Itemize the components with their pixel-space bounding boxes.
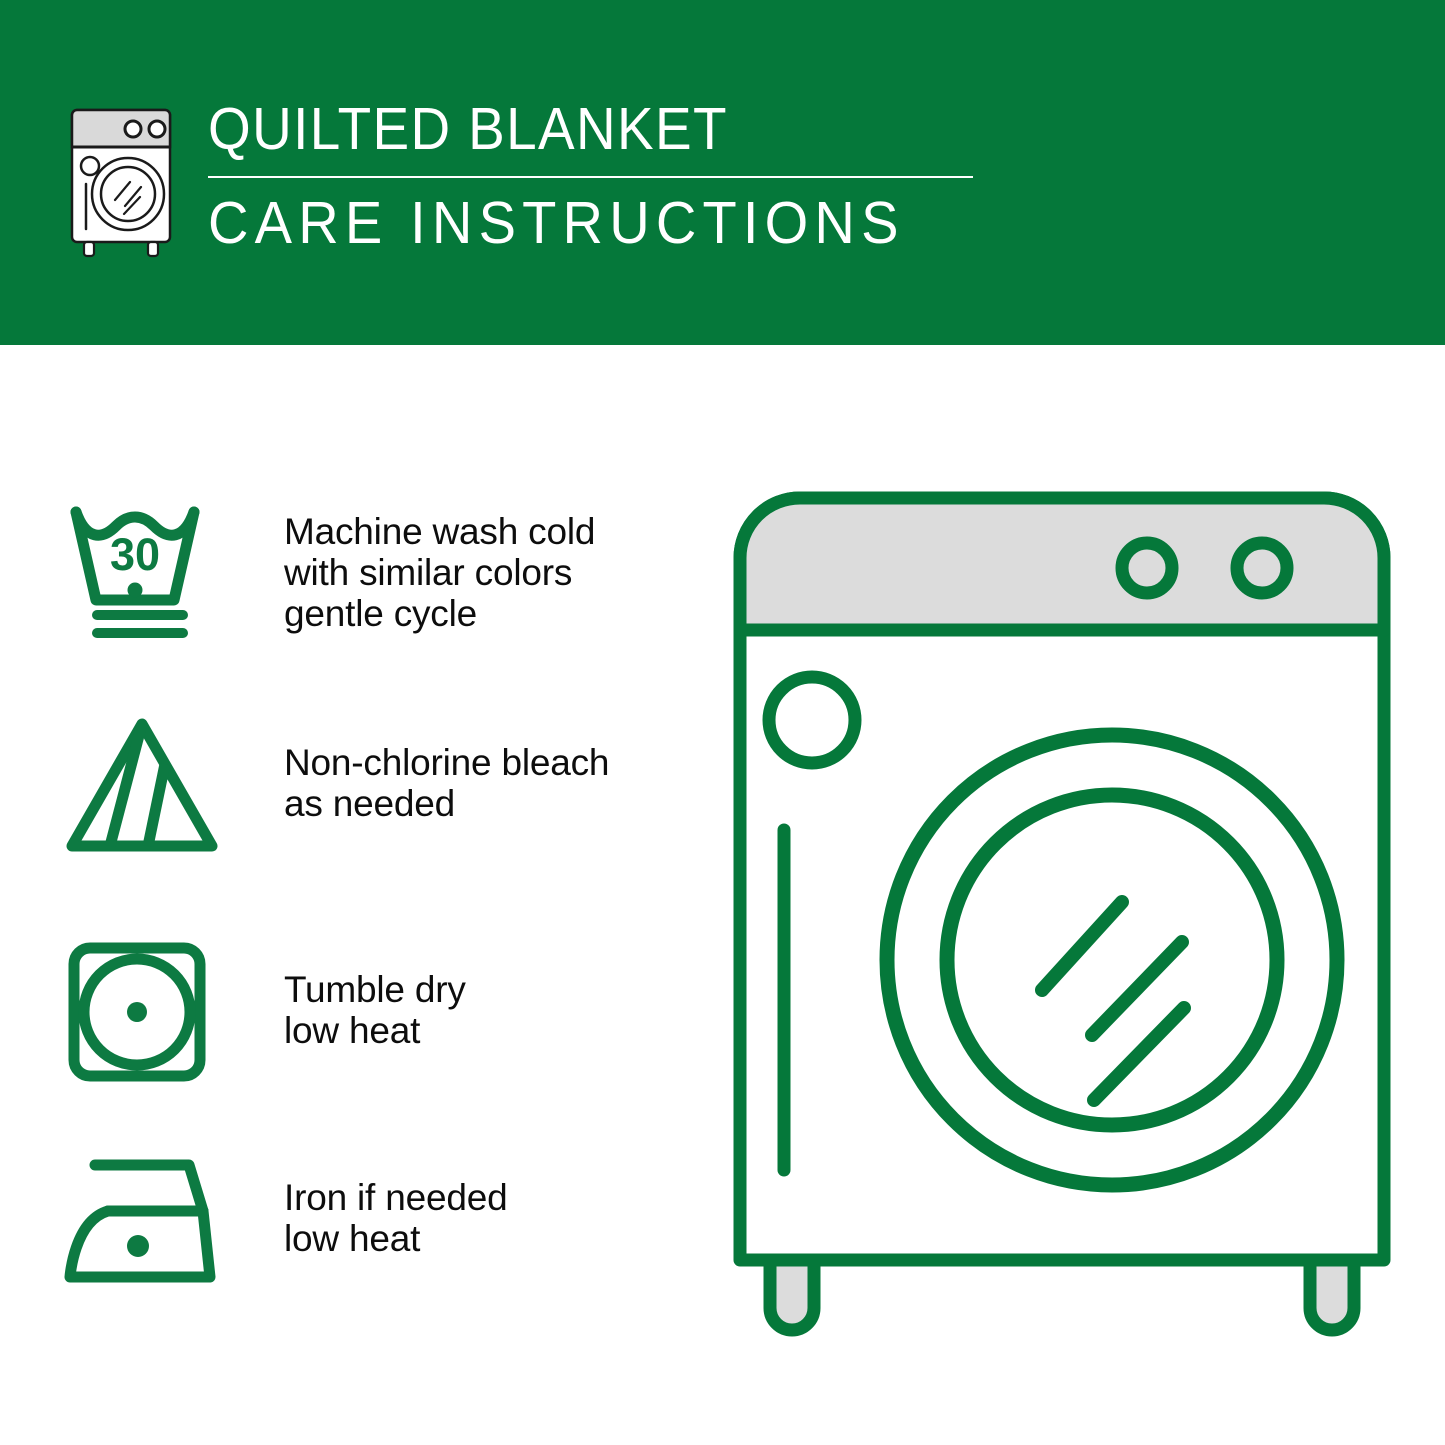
care-item-bleach-text: Non-chlorine bleach as needed bbox=[284, 710, 682, 824]
wash-tub-30-icon: 30 bbox=[62, 495, 232, 645]
care-item-tumble-dry: Tumble dry low heat bbox=[62, 937, 682, 1087]
care-item-bleach: Non-chlorine bleach as needed bbox=[62, 710, 682, 860]
care-instructions-page: QUILTED BLANKET CARE INSTRUCTIONS 30 bbox=[0, 0, 1445, 1445]
care-line: low heat bbox=[284, 1010, 682, 1051]
care-line: gentle cycle bbox=[284, 593, 682, 634]
care-line: Machine wash cold bbox=[284, 511, 682, 552]
care-line: low heat bbox=[284, 1218, 682, 1259]
care-item-iron-text: Iron if needed low heat bbox=[284, 1145, 682, 1259]
title-divider bbox=[208, 176, 973, 178]
care-item-wash-text: Machine wash cold with similar colors ge… bbox=[284, 495, 682, 634]
care-line: as needed bbox=[284, 783, 682, 824]
header-title-block: QUILTED BLANKET CARE INSTRUCTIONS bbox=[208, 96, 973, 256]
washing-machine-illustration bbox=[722, 480, 1402, 1360]
iron-low-heat-icon bbox=[62, 1145, 232, 1295]
bleach-triangle-icon bbox=[62, 710, 232, 860]
care-item-iron: Iron if needed low heat bbox=[62, 1145, 682, 1295]
svg-text:30: 30 bbox=[110, 529, 160, 580]
page-title: QUILTED BLANKET bbox=[208, 96, 919, 162]
care-line: Non-chlorine bleach bbox=[284, 742, 682, 783]
washing-machine-icon bbox=[62, 104, 180, 259]
page-header: QUILTED BLANKET CARE INSTRUCTIONS bbox=[0, 0, 1445, 345]
care-item-tumble-dry-text: Tumble dry low heat bbox=[284, 937, 682, 1051]
header-content: QUILTED BLANKET CARE INSTRUCTIONS bbox=[62, 96, 973, 259]
care-line: with similar colors bbox=[284, 552, 682, 593]
care-line: Iron if needed bbox=[284, 1177, 682, 1218]
care-instructions-list: 30 Machine wash cold with similar colors… bbox=[0, 345, 700, 1445]
tumble-dry-low-icon bbox=[62, 937, 232, 1087]
care-line: Tumble dry bbox=[284, 969, 682, 1010]
page-subtitle: CARE INSTRUCTIONS bbox=[208, 190, 935, 256]
care-item-wash: 30 Machine wash cold with similar colors… bbox=[62, 495, 682, 645]
